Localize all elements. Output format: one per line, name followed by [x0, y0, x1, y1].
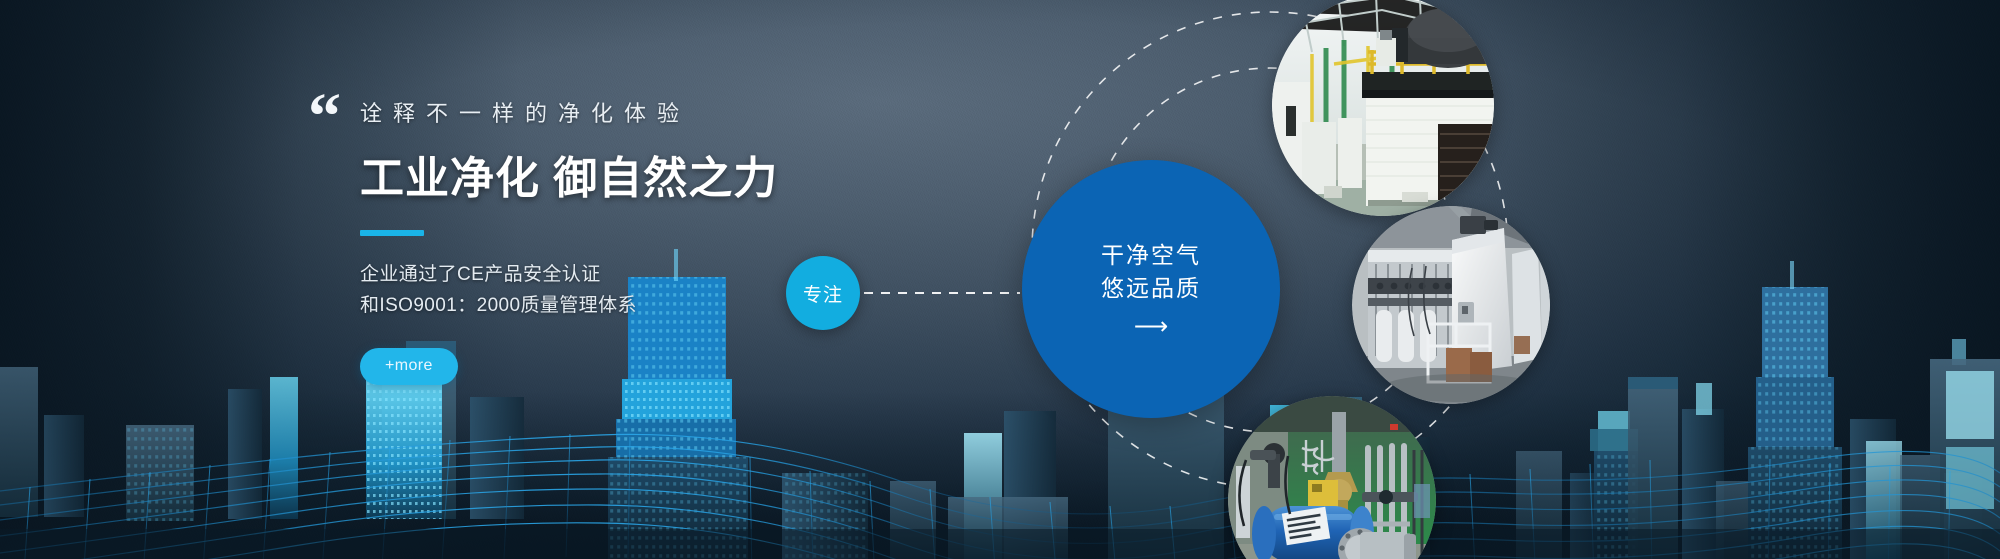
dashed-connector-line	[864, 292, 1020, 294]
hero-banner: “ 诠释不一样的净化体验 工业净化 御自然之力 企业通过了CE产品安全认证 和I…	[0, 0, 2000, 559]
banner-description: 企业通过了CE产品安全认证 和ISO9001：2000质量管理体系	[360, 260, 830, 322]
photo-circle-textile-machinery[interactable]	[1352, 206, 1550, 404]
quote-mark-icon: “	[308, 84, 339, 150]
accent-underline	[360, 230, 424, 236]
description-line-1: 企业通过了CE产品安全认证	[360, 260, 830, 291]
copy-block: “ 诠释不一样的净化体验 工业净化 御自然之力 企业通过了CE产品安全认证 和I…	[360, 96, 830, 385]
hero-circle-line-1: 干净空气	[1101, 239, 1201, 272]
cityscape-illustration	[0, 229, 2000, 559]
photo-circle-industrial-plant[interactable]	[1272, 0, 1494, 216]
arrow-right-icon: ⟶	[1134, 315, 1168, 339]
hero-circle-line-2: 悠远品质	[1101, 272, 1201, 305]
description-line-2: 和ISO9001：2000质量管理体系	[360, 291, 830, 322]
more-button[interactable]: +more	[360, 348, 458, 385]
focus-badge-label: 专注	[803, 280, 843, 307]
hero-circle-cta[interactable]: 干净空气 悠远品质 ⟶	[1022, 160, 1280, 418]
banner-subtitle: 诠释不一样的净化体验	[360, 96, 830, 128]
banner-headline: 工业净化 御自然之力	[360, 142, 830, 206]
focus-badge[interactable]: 专注	[786, 256, 860, 330]
